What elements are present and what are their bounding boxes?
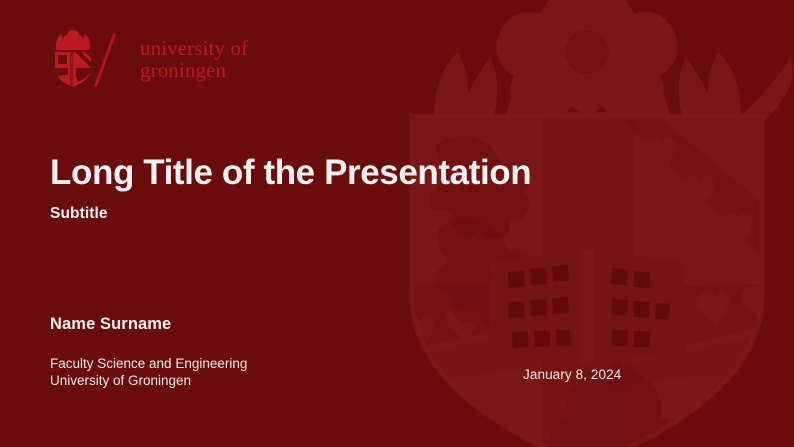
author-block: Name Surname Faculty Science and Enginee…	[50, 313, 470, 389]
presentation-date: January 8, 2024	[523, 366, 621, 383]
author-affiliation: Faculty Science and Engineering Universi…	[50, 355, 470, 389]
presentation-title-slide: university of groningen Long Title of th…	[0, 0, 794, 447]
title-block: Long Title of the Presentation Subtitle	[50, 152, 690, 224]
university-logo: university of groningen	[50, 28, 248, 90]
logo-divider-slash-icon	[96, 30, 136, 88]
page-title: Long Title of the Presentation	[50, 152, 690, 194]
logo-wordmark: university of groningen	[140, 37, 248, 81]
university-crest-icon	[50, 30, 96, 88]
author-name: Name Surname	[50, 313, 470, 335]
page-subtitle: Subtitle	[50, 204, 690, 224]
